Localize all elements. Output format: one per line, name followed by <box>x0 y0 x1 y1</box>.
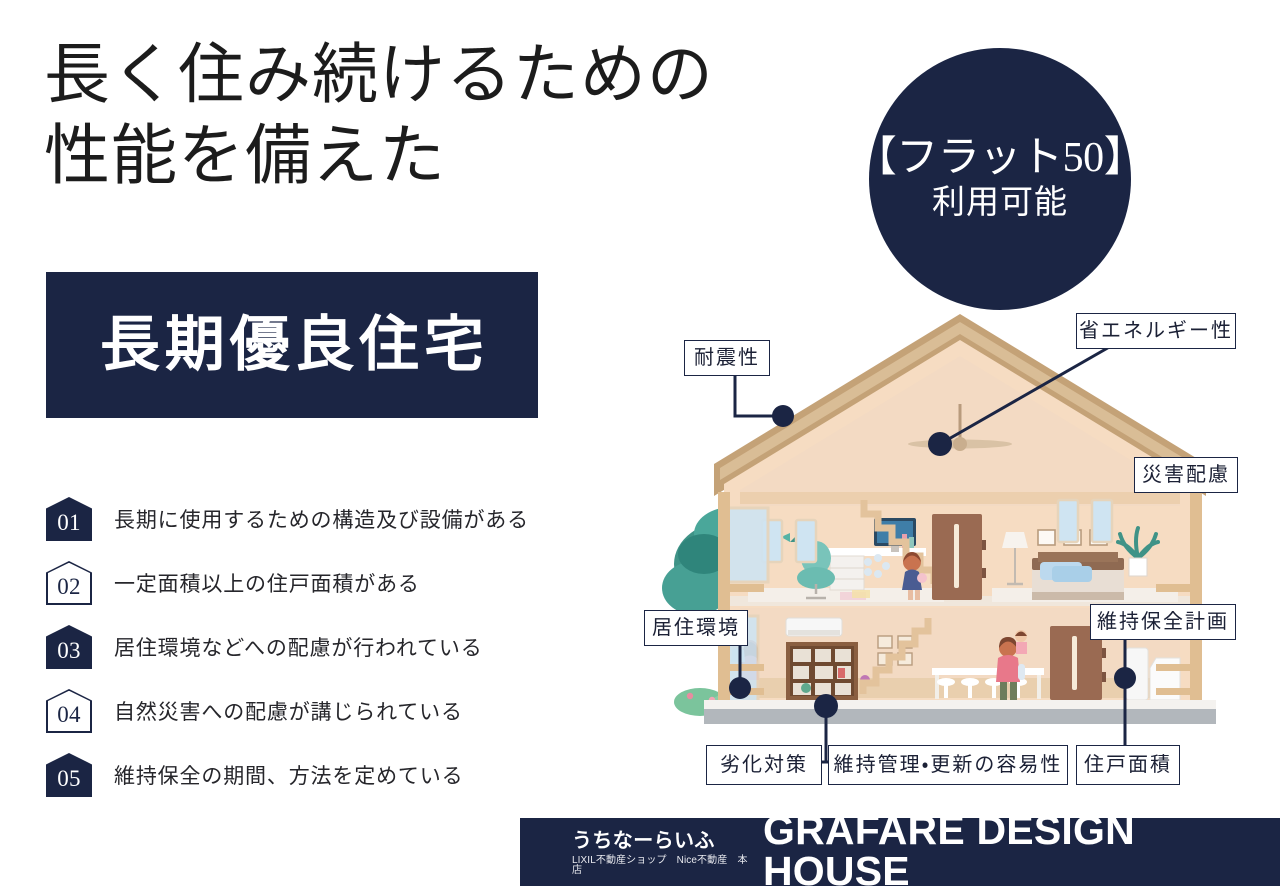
headline-line-2: 性能を備えた <box>44 117 844 198</box>
list-item: 02 一定面積以上の住戸面積がある <box>46 551 546 615</box>
callout-maintenance-ease-label: 維持管理・更新の容易性 <box>834 755 1063 775</box>
list-item: 05 維持保全の期間、方法を定めている <box>46 743 546 807</box>
main-title-label: 長期優良住宅 <box>95 315 489 375</box>
callout-floor-area-label: 住戸面積 <box>1084 755 1172 775</box>
footer-company-block: うちなーらいふ LIXIL不動産ショップ Nice不動産 本店 <box>572 831 753 876</box>
callout-seismic-label: 耐震性 <box>694 348 760 368</box>
house-badge-icon: 01 <box>46 497 92 541</box>
page-title: 長く住み続けるための 性能を備えた <box>44 36 844 197</box>
callout-energy-saving-label: 省エネルギー性 <box>1079 321 1233 341</box>
footer-brand-main: GRAFARE DESIGN HOUSE <box>763 810 1280 886</box>
callout-maintenance-plan[interactable]: 維持保全計画 <box>1090 604 1236 640</box>
requirement-text: 一定面積以上の住戸面積がある <box>114 568 420 598</box>
requirement-number: 03 <box>57 639 80 669</box>
requirement-list: 01 長期に使用するための構造及び設備がある 02 一定面積以上の住戸面積がある… <box>46 487 546 807</box>
requirement-text: 自然災害への配慮が講じられている <box>114 696 463 726</box>
callout-deterioration[interactable]: 劣化対策 <box>706 745 822 785</box>
list-item: 04 自然災害への配慮が講じられている <box>46 679 546 743</box>
callout-floor-area[interactable]: 住戸面積 <box>1076 745 1180 785</box>
house-badge-icon: 05 <box>46 753 92 797</box>
house-badge-icon: 03 <box>46 625 92 669</box>
list-item: 01 長期に使用するための構造及び設備がある <box>46 487 546 551</box>
requirement-text: 長期に使用するための構造及び設備がある <box>114 504 529 534</box>
callout-dot <box>729 677 751 699</box>
callout-maintenance-plan-label: 維持保全計画 <box>1097 612 1229 632</box>
callout-energy-saving[interactable]: 省エネルギー性 <box>1076 313 1236 349</box>
flat50-badge-line-2: 利用可能 <box>932 184 1068 224</box>
poster-root: 長く住み続けるための 性能を備えた 長期優良住宅 01 長期に使用するための構造… <box>0 0 1280 886</box>
requirement-number: 04 <box>57 703 80 733</box>
headline-line-1: 長く住み続けるための <box>44 39 714 112</box>
callout-deterioration-label: 劣化対策 <box>720 755 808 775</box>
callout-dot <box>928 432 952 456</box>
main-title-plate: 長期優良住宅 <box>46 272 538 418</box>
callout-dot <box>1114 667 1136 689</box>
callout-living-environment-label: 居住環境 <box>652 618 740 638</box>
requirement-text: 維持保全の期間、方法を定めている <box>114 760 463 790</box>
list-item: 03 居住環境などへの配慮が行われている <box>46 615 546 679</box>
callout-living-environment[interactable]: 居住環境 <box>644 610 748 646</box>
requirement-number: 02 <box>57 575 80 605</box>
flat50-badge-line-1: 【フラット50】 <box>855 135 1146 182</box>
footer-brand-bar: うちなーらいふ LIXIL不動産ショップ Nice不動産 本店 GRAFARE … <box>520 818 1280 886</box>
callout-dot <box>772 405 794 427</box>
callout-dot <box>814 694 838 718</box>
callout-disaster-label: 災害配慮 <box>1142 465 1230 485</box>
requirement-number: 05 <box>57 767 80 797</box>
house-badge-icon: 02 <box>46 561 92 605</box>
callout-maintenance-ease[interactable]: 維持管理・更新の容易性 <box>828 745 1068 785</box>
callout-seismic[interactable]: 耐震性 <box>684 340 770 376</box>
footer-brand-jp: うちなーらいふ <box>572 831 715 851</box>
house-badge-icon: 04 <box>46 689 92 733</box>
callout-disaster[interactable]: 災害配慮 <box>1134 457 1238 493</box>
flat50-badge: 【フラット50】 利用可能 <box>869 48 1131 310</box>
requirement-text: 居住環境などへの配慮が行われている <box>114 632 483 662</box>
requirement-number: 01 <box>57 511 80 541</box>
footer-affiliation: LIXIL不動産ショップ Nice不動産 本店 <box>572 856 753 876</box>
